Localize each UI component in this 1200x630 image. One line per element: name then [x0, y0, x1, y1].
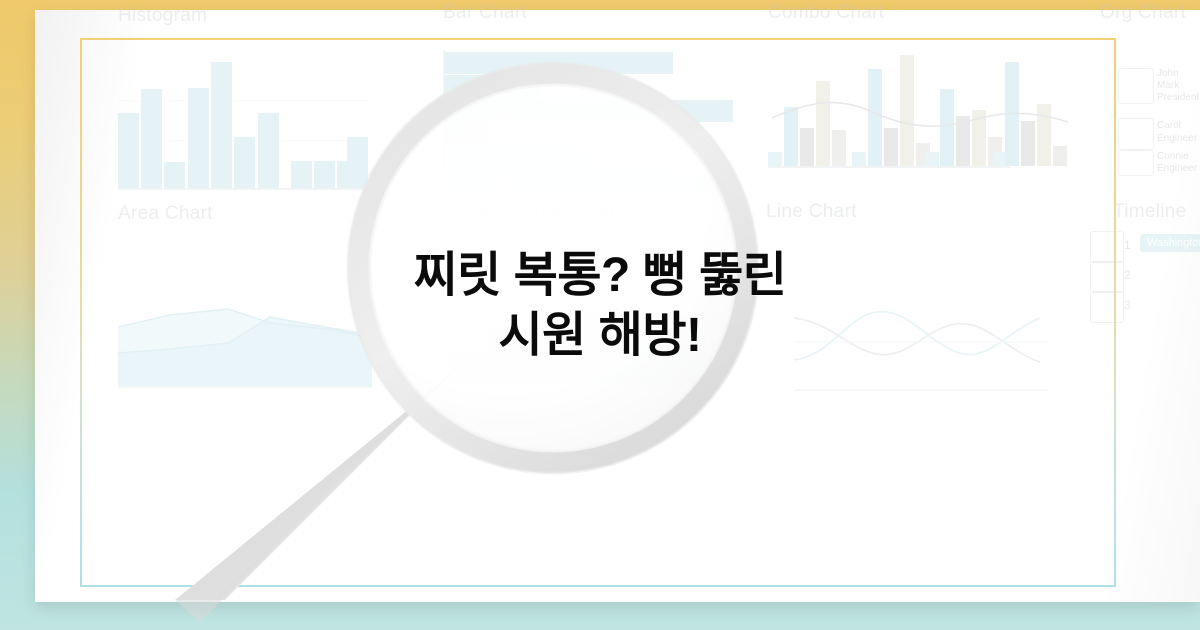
headline-line-2: 시원 해방! — [0, 306, 1200, 366]
poster-canvas: Histogram Bar Chart Combo Chart Org Char… — [0, 0, 1200, 630]
headline-line-1: 찌릿 복통? 뻥 뚫린 — [0, 246, 1200, 306]
page-title: 찌릿 복통? 뻥 뚫린 시원 해방! — [0, 246, 1200, 366]
